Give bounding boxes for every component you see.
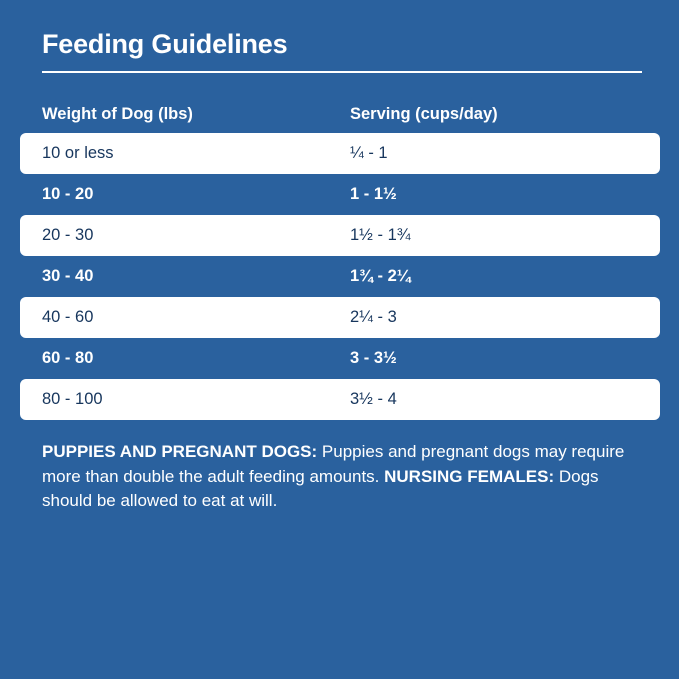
table-row: 20 - 30 1½ - 1¾ [20,215,660,256]
cell-weight: 30 - 40 [20,267,350,286]
cell-serving: ¼ - 1 [350,144,660,163]
cell-serving: 3 - 3½ [350,349,660,368]
table-row: 80 - 100 3½ - 4 [20,379,660,420]
cell-serving: 2¼ - 3 [350,308,660,327]
cell-weight: 20 - 30 [20,226,350,245]
table-row: 40 - 60 2¼ - 3 [20,297,660,338]
feeding-notes: PUPPIES AND PREGNANT DOGS: Puppies and p… [42,440,642,514]
cell-weight: 10 - 20 [20,185,350,204]
page-title: Feeding Guidelines [42,30,287,60]
cell-weight: 60 - 80 [20,349,350,368]
table-header-row: Weight of Dog (lbs) Serving (cups/day) [20,95,660,133]
feeding-guidelines-table: Weight of Dog (lbs) Serving (cups/day) 1… [20,95,660,420]
nursing-label: NURSING FEMALES: [384,467,554,486]
cell-weight: 40 - 60 [20,308,350,327]
column-header-weight: Weight of Dog (lbs) [20,105,350,124]
feeding-guidelines-panel: Feeding Guidelines Weight of Dog (lbs) S… [0,0,679,679]
cell-weight: 80 - 100 [20,390,350,409]
cell-serving: 1½ - 1¾ [350,226,660,245]
title-divider [42,71,642,73]
cell-serving: 1¾ - 2¼ [350,267,660,286]
table-row: 60 - 80 3 - 3½ [20,338,660,379]
table-row: 30 - 40 1¾ - 2¼ [20,256,660,297]
table-row: 10 - 20 1 - 1½ [20,174,660,215]
column-header-serving: Serving (cups/day) [350,105,660,124]
table-row: 10 or less ¼ - 1 [20,133,660,174]
cell-serving: 1 - 1½ [350,185,660,204]
cell-serving: 3½ - 4 [350,390,660,409]
cell-weight: 10 or less [20,144,350,163]
puppies-label: PUPPIES AND PREGNANT DOGS: [42,442,317,461]
